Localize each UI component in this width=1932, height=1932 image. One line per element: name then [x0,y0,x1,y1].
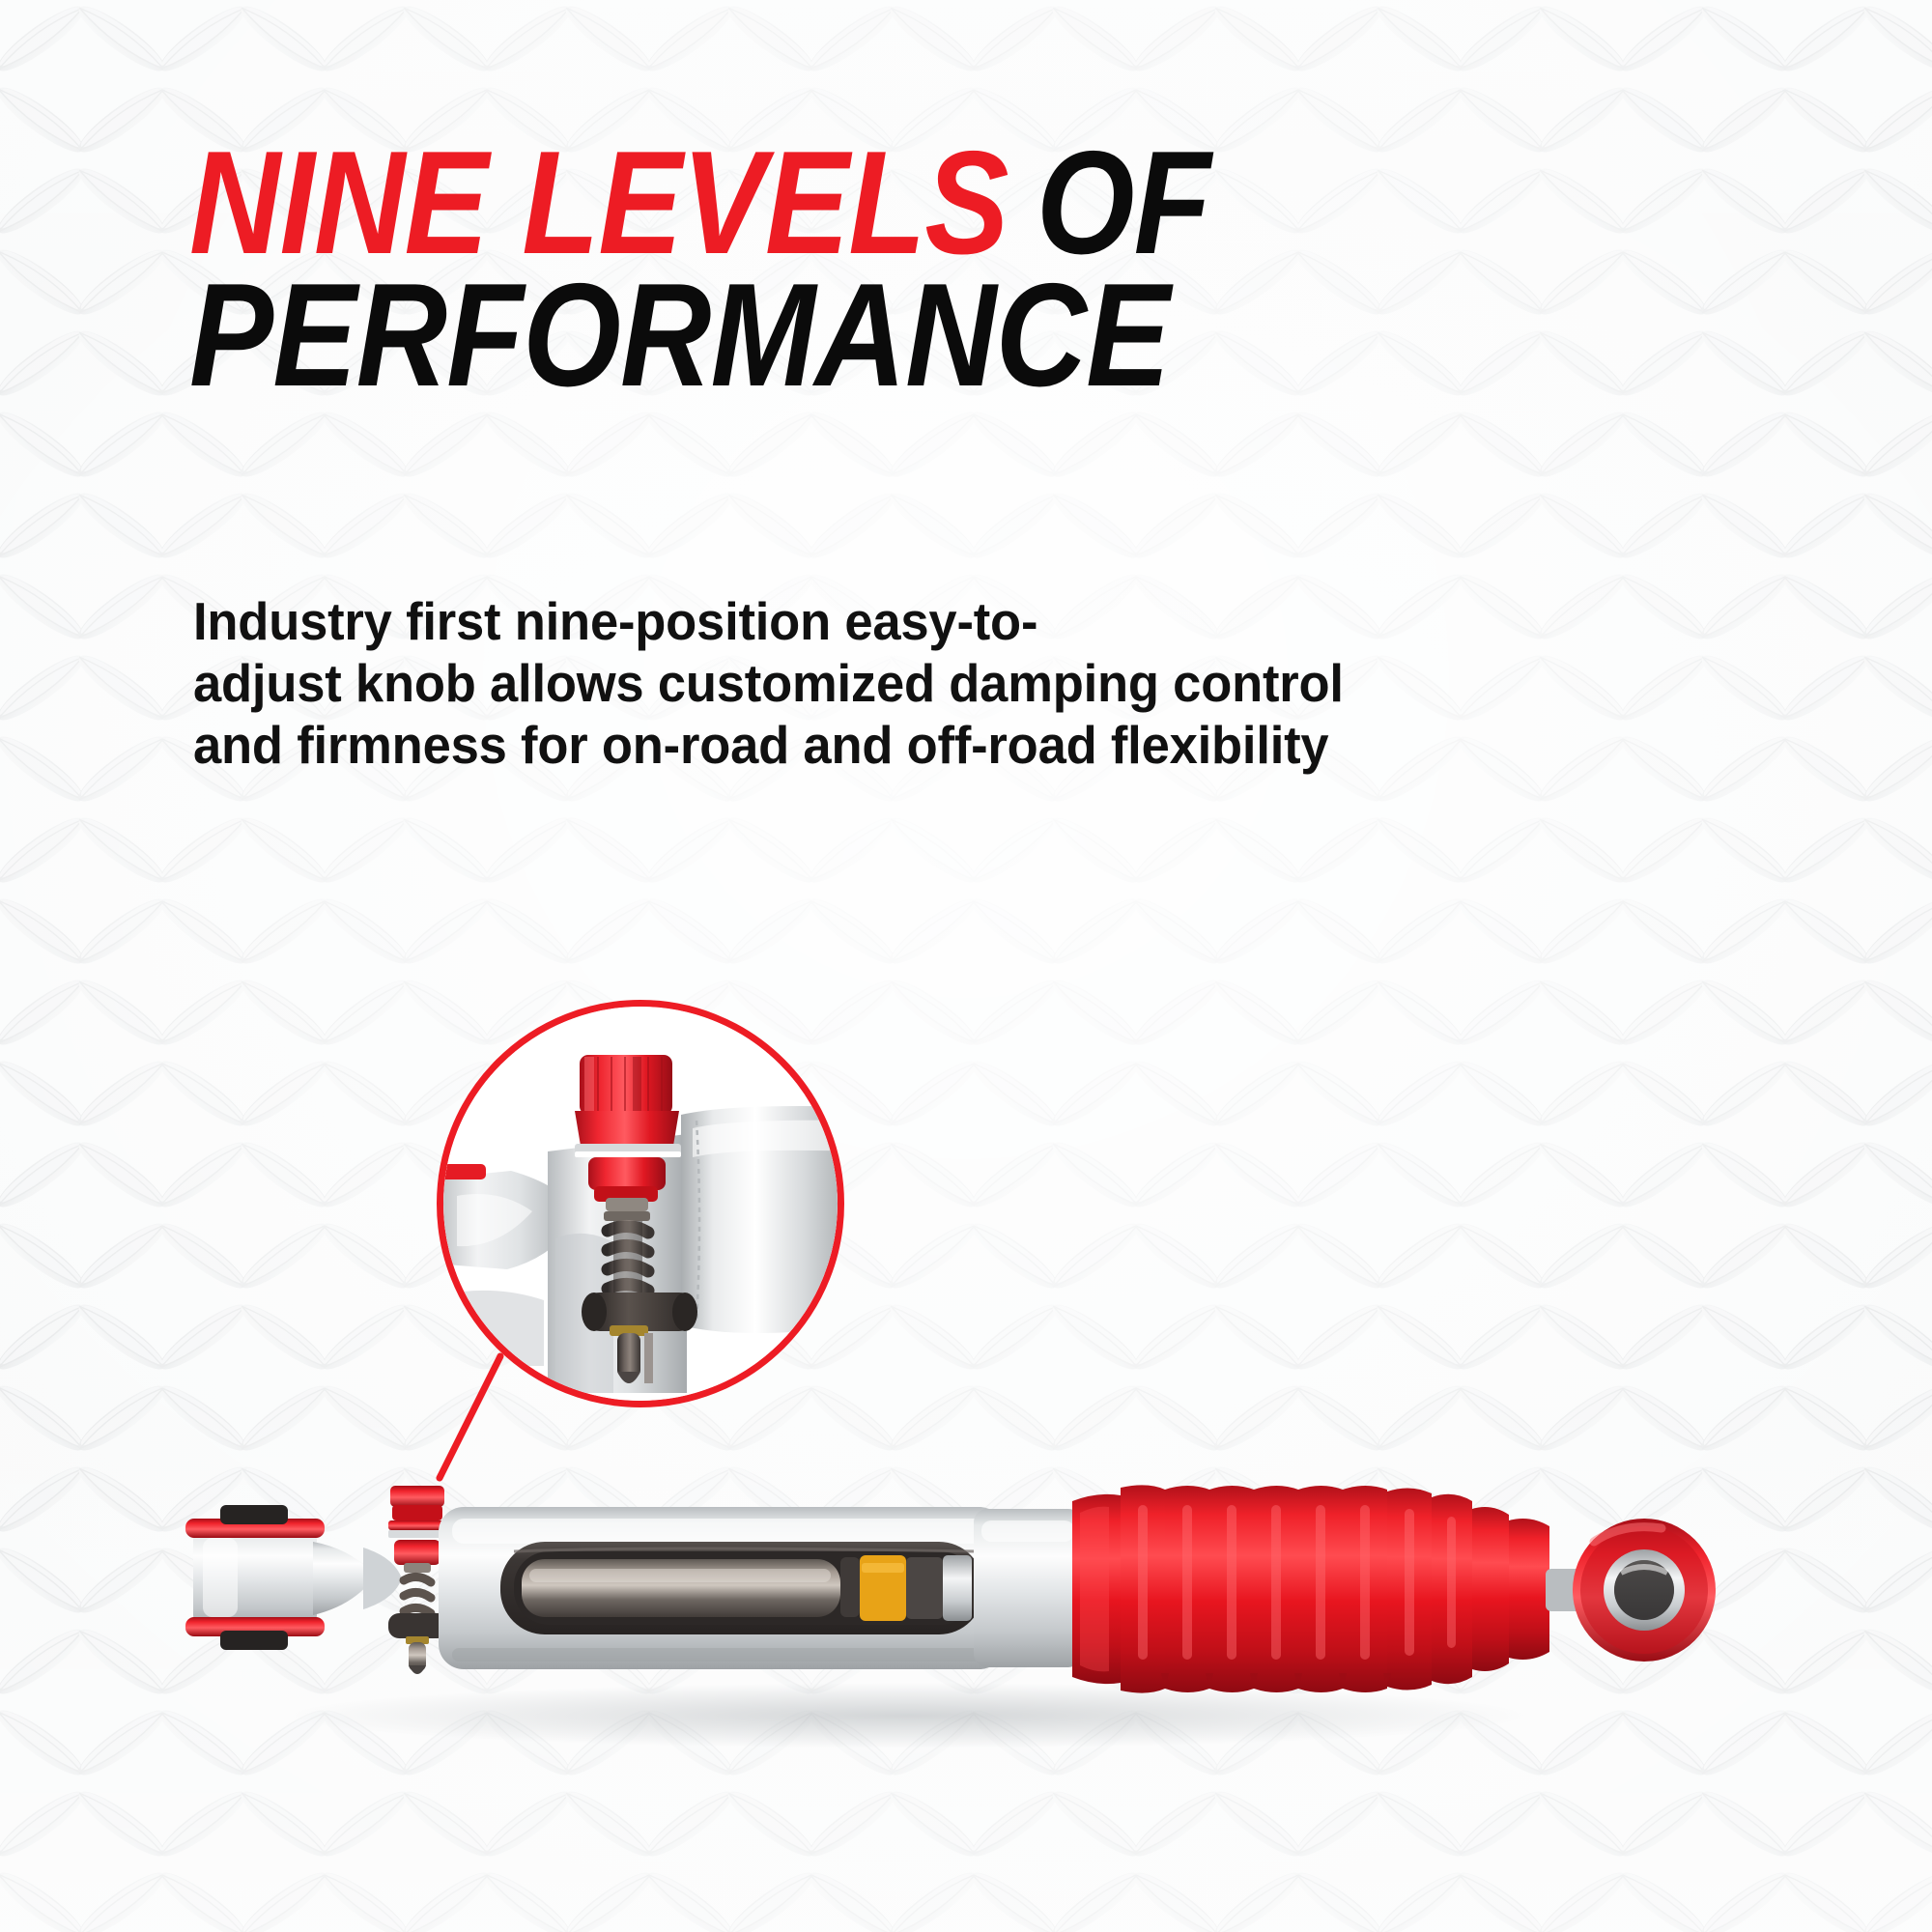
detail-callout-circle [437,1000,844,1407]
callout-ring-border [437,1000,844,1407]
callout-image-clip [443,1007,838,1401]
callout-shock-shoulder [681,1106,838,1333]
red-bellows-boot [1072,1485,1549,1692]
subcopy-line-3: and firmness for on-road and off-road fl… [193,715,1540,777]
piston-rod [522,1559,840,1617]
bushing-sleeve-bottom [220,1631,288,1650]
callout-red-collar [588,1157,666,1202]
subcopy-line-2: adjust knob allows customized damping co… [193,653,1540,715]
headline-line-1: NINE LEVELS OF [189,137,1486,270]
subcopy-line-1: Industry first nine-position easy-to- [193,591,1540,653]
piston-body [906,1557,943,1619]
bushing-sleeve-top [220,1505,288,1524]
callout-red-tab [443,1164,486,1179]
headline-black-text: OF [1037,137,1210,270]
shock-body-right-section [974,1509,1082,1667]
marketing-hero-banner: NINE LEVELS OF PERFORMANCE Industry firs… [0,0,1932,1932]
product-shock-absorber [174,1449,1758,1768]
product-shadow [290,1683,1526,1748]
eyelet-bushing-left [185,1505,402,1650]
eyelet-right [1546,1519,1716,1662]
headline-red-text: NINE LEVELS [189,137,1009,270]
boot-end-cap [1509,1519,1549,1660]
boot-convolutions [1121,1485,1509,1692]
callout-adjuster-knob [575,1055,681,1157]
page-title: NINE LEVELS OF PERFORMANCE [189,137,1696,402]
cutaway-window [500,1542,983,1634]
piston-ring [943,1555,972,1621]
headline-line-2: PERFORMANCE [189,270,1486,402]
subcopy-paragraph: Industry first nine-position easy-to- ad… [193,591,1540,776]
piston-seat [840,1557,860,1617]
